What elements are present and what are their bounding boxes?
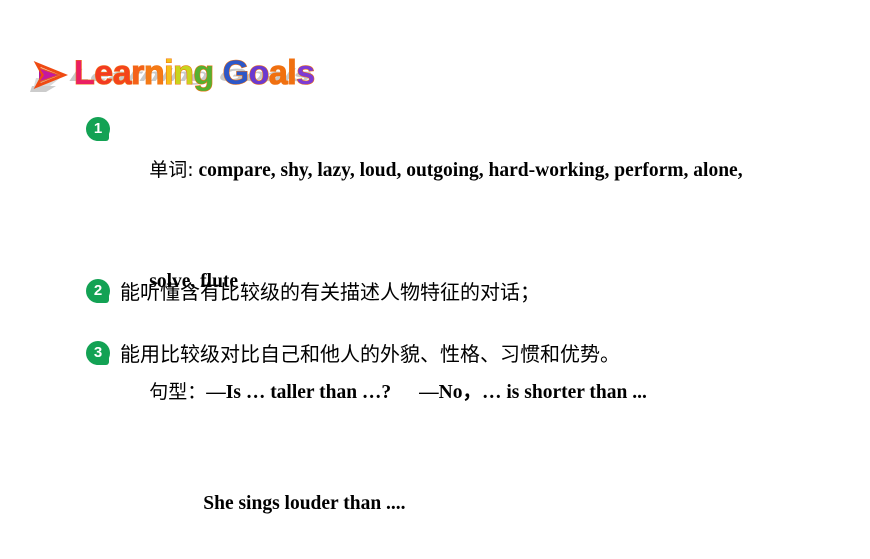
page-title: Learning Goals Learning Goals <box>74 53 315 99</box>
page-title-letter-2: a <box>113 54 131 92</box>
vocabulary-words-part1: compare, shy, lazy, loud, outgoing, hard… <box>194 160 743 181</box>
vocabulary-label: 单词: <box>149 159 193 181</box>
page-title-letter-11: a <box>269 54 287 92</box>
page-title-letter-13: s <box>296 54 314 92</box>
goal-badge-3: 3 <box>86 341 110 365</box>
goal-badge-number: 3 <box>86 341 110 365</box>
page-title-letter-6: n <box>173 54 193 92</box>
sentence-pattern-question: —Is … taller than …? <box>206 382 391 403</box>
goal-1-line-1: 单词: compare, shy, lazy, loud, outgoing, … <box>120 115 743 226</box>
goal-badge-number: 2 <box>86 279 110 303</box>
sentence-pattern-example: She sings louder than .... <box>203 493 405 514</box>
page-title-letter-7: g <box>193 54 213 92</box>
goal-item-3: 3 能用比较级对比自己和他人的外貌、性格、习惯和优势。 <box>86 339 620 369</box>
page-title-letter-8 <box>214 54 223 92</box>
goal-badge-2: 2 <box>86 279 110 303</box>
page-title-letter-10: o <box>249 54 269 92</box>
goal-1-line-4: She sings louder than .... <box>120 448 743 559</box>
sentence-pattern-label: 句型： <box>149 381 206 403</box>
goal-body-1: 单词: compare, shy, lazy, loud, outgoing, … <box>120 115 743 559</box>
goal-body-2: 能听懂含有比较级的有关描述人物特征的对话； <box>120 277 540 307</box>
goal-badge-number: 1 <box>86 117 110 141</box>
goal-2-text: 能听懂含有比较级的有关描述人物特征的对话； <box>120 277 540 307</box>
page-title-letter-9: G <box>223 54 249 92</box>
page-title-letter-5: i <box>164 54 173 92</box>
goal-item-2: 2 能听懂含有比较级的有关描述人物特征的对话； <box>86 277 540 307</box>
goal-badge-1: 1 <box>86 117 110 141</box>
page-title-letter-1: e <box>94 54 112 92</box>
page-title-letter-3: r <box>131 54 144 92</box>
title-row: Learning Goals Learning Goals <box>30 52 315 100</box>
page-title-letter-12: l <box>287 54 296 92</box>
goal-item-1: 1 单词: compare, shy, lazy, loud, outgoing… <box>86 115 743 559</box>
sentence-pattern-answer: —No，… is shorter than ... <box>419 382 647 403</box>
goal-body-3: 能用比较级对比自己和他人的外貌、性格、习惯和优势。 <box>120 339 620 369</box>
goal-3-text: 能用比较级对比自己和他人的外貌、性格、习惯和优势。 <box>120 339 620 369</box>
arrow-right-marker-icon <box>30 56 70 96</box>
page-title-letter-4: n <box>144 54 164 92</box>
page-title-text: Learning Goals <box>74 54 315 92</box>
page-title-letter-0: L <box>74 54 94 92</box>
